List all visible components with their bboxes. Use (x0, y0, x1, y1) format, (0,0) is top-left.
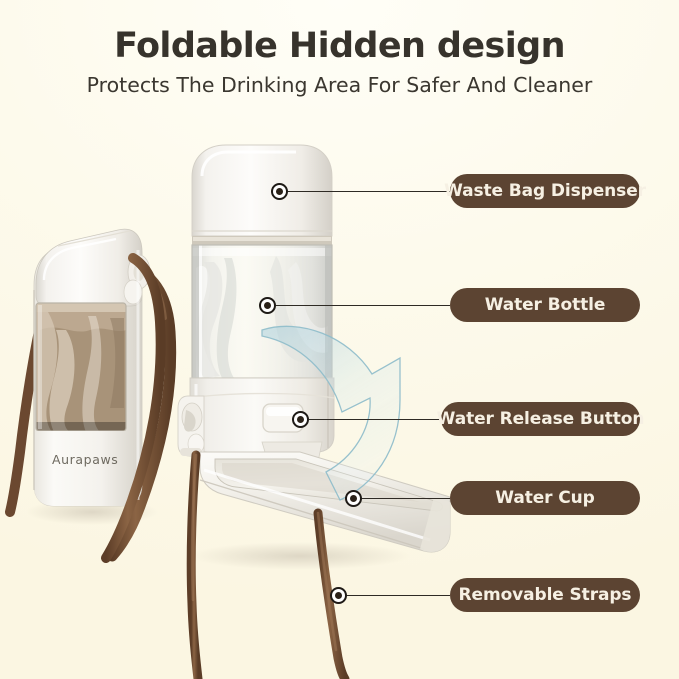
callout-water-cup[interactable]: Water Cup (450, 481, 640, 515)
leader-line-water-cup (362, 498, 450, 500)
anchor-dot-waste-bag-dispenser (271, 183, 288, 200)
leader-line-water-bottle (276, 305, 450, 307)
callout-waste-bag-dispenser[interactable]: Waste Bag Dispenser (450, 174, 640, 208)
strap-hinge-left (178, 396, 204, 456)
leader-line-water-release-button (309, 419, 441, 421)
heading-block: Foldable Hidden design Protects The Drin… (0, 28, 679, 97)
callout-removable-straps[interactable]: Removable Straps (450, 578, 640, 612)
anchor-dot-water-release-button (292, 411, 309, 428)
leader-line-removable-straps (347, 595, 450, 597)
product-infographic-poster: Aurapaws (0, 0, 679, 679)
leader-line-waste-bag-dispenser (288, 191, 450, 193)
page-subtitle: Protects The Drinking Area For Safer And… (0, 74, 679, 97)
page-title: Foldable Hidden design (0, 28, 679, 65)
callout-water-release-button[interactable]: Water Release Button (441, 402, 640, 436)
anchor-dot-removable-straps (330, 587, 347, 604)
main-product-open (178, 145, 450, 679)
brand-label: Aurapaws (52, 452, 118, 467)
anchor-dot-water-bottle (259, 297, 276, 314)
callout-water-bottle[interactable]: Water Bottle (450, 288, 640, 322)
anchor-dot-water-cup (345, 490, 362, 507)
